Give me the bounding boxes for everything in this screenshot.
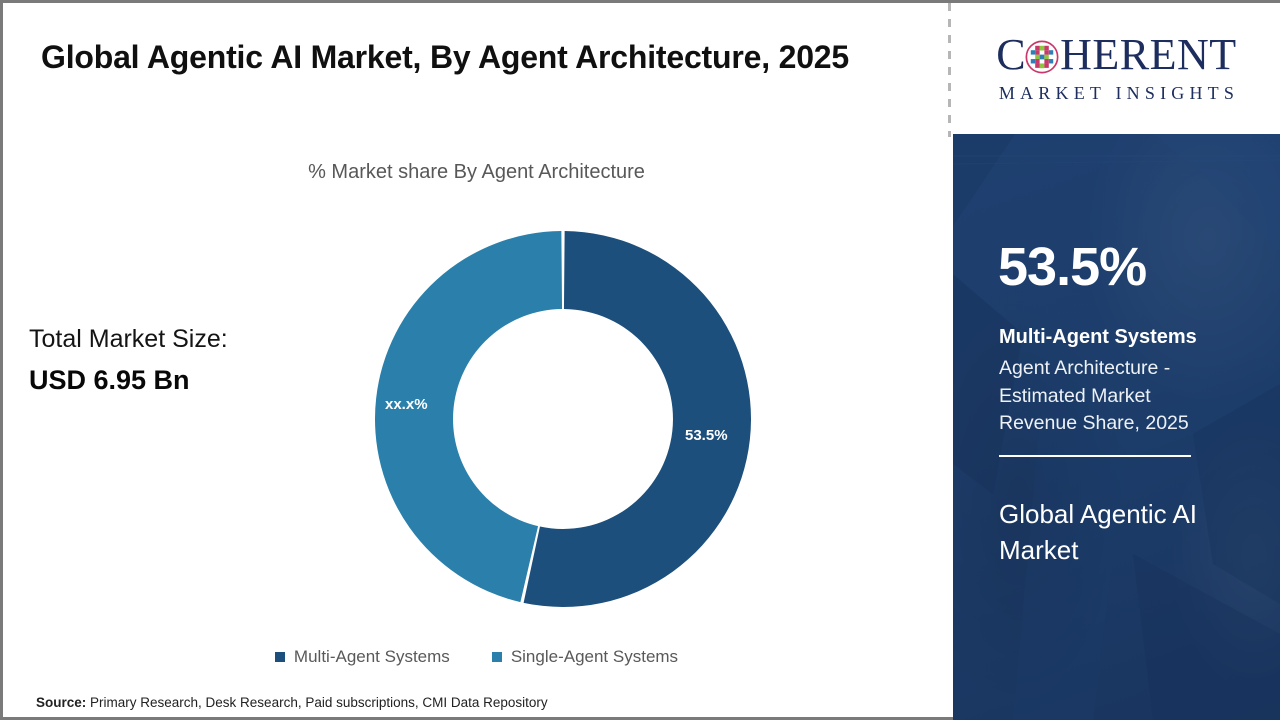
source-label: Source: bbox=[36, 695, 86, 710]
legend-label-single-agent: Single-Agent Systems bbox=[511, 647, 678, 667]
total-market-size-value: USD 6.95 Bn bbox=[29, 365, 190, 396]
donut-chart-svg bbox=[375, 231, 751, 607]
donut-chart: xx.x% 53.5% bbox=[375, 231, 751, 607]
stat-percent: 53.5% bbox=[998, 240, 1146, 294]
legend-item-single-agent[interactable]: Single-Agent Systems bbox=[492, 647, 678, 667]
brand-logo-name-rest: HERENT bbox=[1060, 33, 1237, 77]
source-note: Source: Primary Research, Desk Research,… bbox=[36, 695, 548, 710]
brand-logo-wordmark: C bbox=[996, 33, 1236, 77]
chart-subtitle: % Market share By Agent Architecture bbox=[3, 161, 950, 184]
legend-swatch-multi-agent bbox=[275, 652, 285, 662]
stat-divider-rule bbox=[999, 455, 1191, 457]
page-title: Global Agentic AI Market, By Agent Archi… bbox=[41, 33, 921, 83]
stat-market-name: Global Agentic AI Market bbox=[999, 497, 1249, 569]
slice-label-multi-agent: 53.5% bbox=[685, 427, 728, 444]
chart-legend: Multi-Agent Systems Single-Agent Systems bbox=[3, 647, 950, 667]
slice-label-single-agent: xx.x% bbox=[385, 396, 428, 413]
donut-slice[interactable] bbox=[375, 231, 562, 602]
globe-dots-icon bbox=[1025, 40, 1059, 74]
vertical-dashed-divider bbox=[948, 3, 951, 137]
source-text: Primary Research, Desk Research, Paid su… bbox=[86, 695, 547, 710]
chart-pane: Global Agentic AI Market, By Agent Archi… bbox=[3, 3, 950, 720]
stat-description: Agent Architecture - Estimated Market Re… bbox=[999, 355, 1229, 438]
brand-logo-tagline: MARKET INSIGHTS bbox=[994, 83, 1239, 104]
infographic-root: Global Agentic AI Market, By Agent Archi… bbox=[0, 0, 1280, 720]
brand-logo-letter-c: C bbox=[996, 33, 1026, 77]
stat-segment-name: Multi-Agent Systems bbox=[999, 326, 1197, 349]
brand-logo: C bbox=[953, 3, 1280, 134]
total-market-size-label: Total Market Size: bbox=[29, 325, 228, 354]
legend-swatch-single-agent bbox=[492, 652, 502, 662]
legend-label-multi-agent: Multi-Agent Systems bbox=[294, 647, 450, 667]
highlight-stat-panel: 53.5% Multi-Agent Systems Agent Architec… bbox=[953, 134, 1280, 720]
legend-item-multi-agent[interactable]: Multi-Agent Systems bbox=[275, 647, 450, 667]
